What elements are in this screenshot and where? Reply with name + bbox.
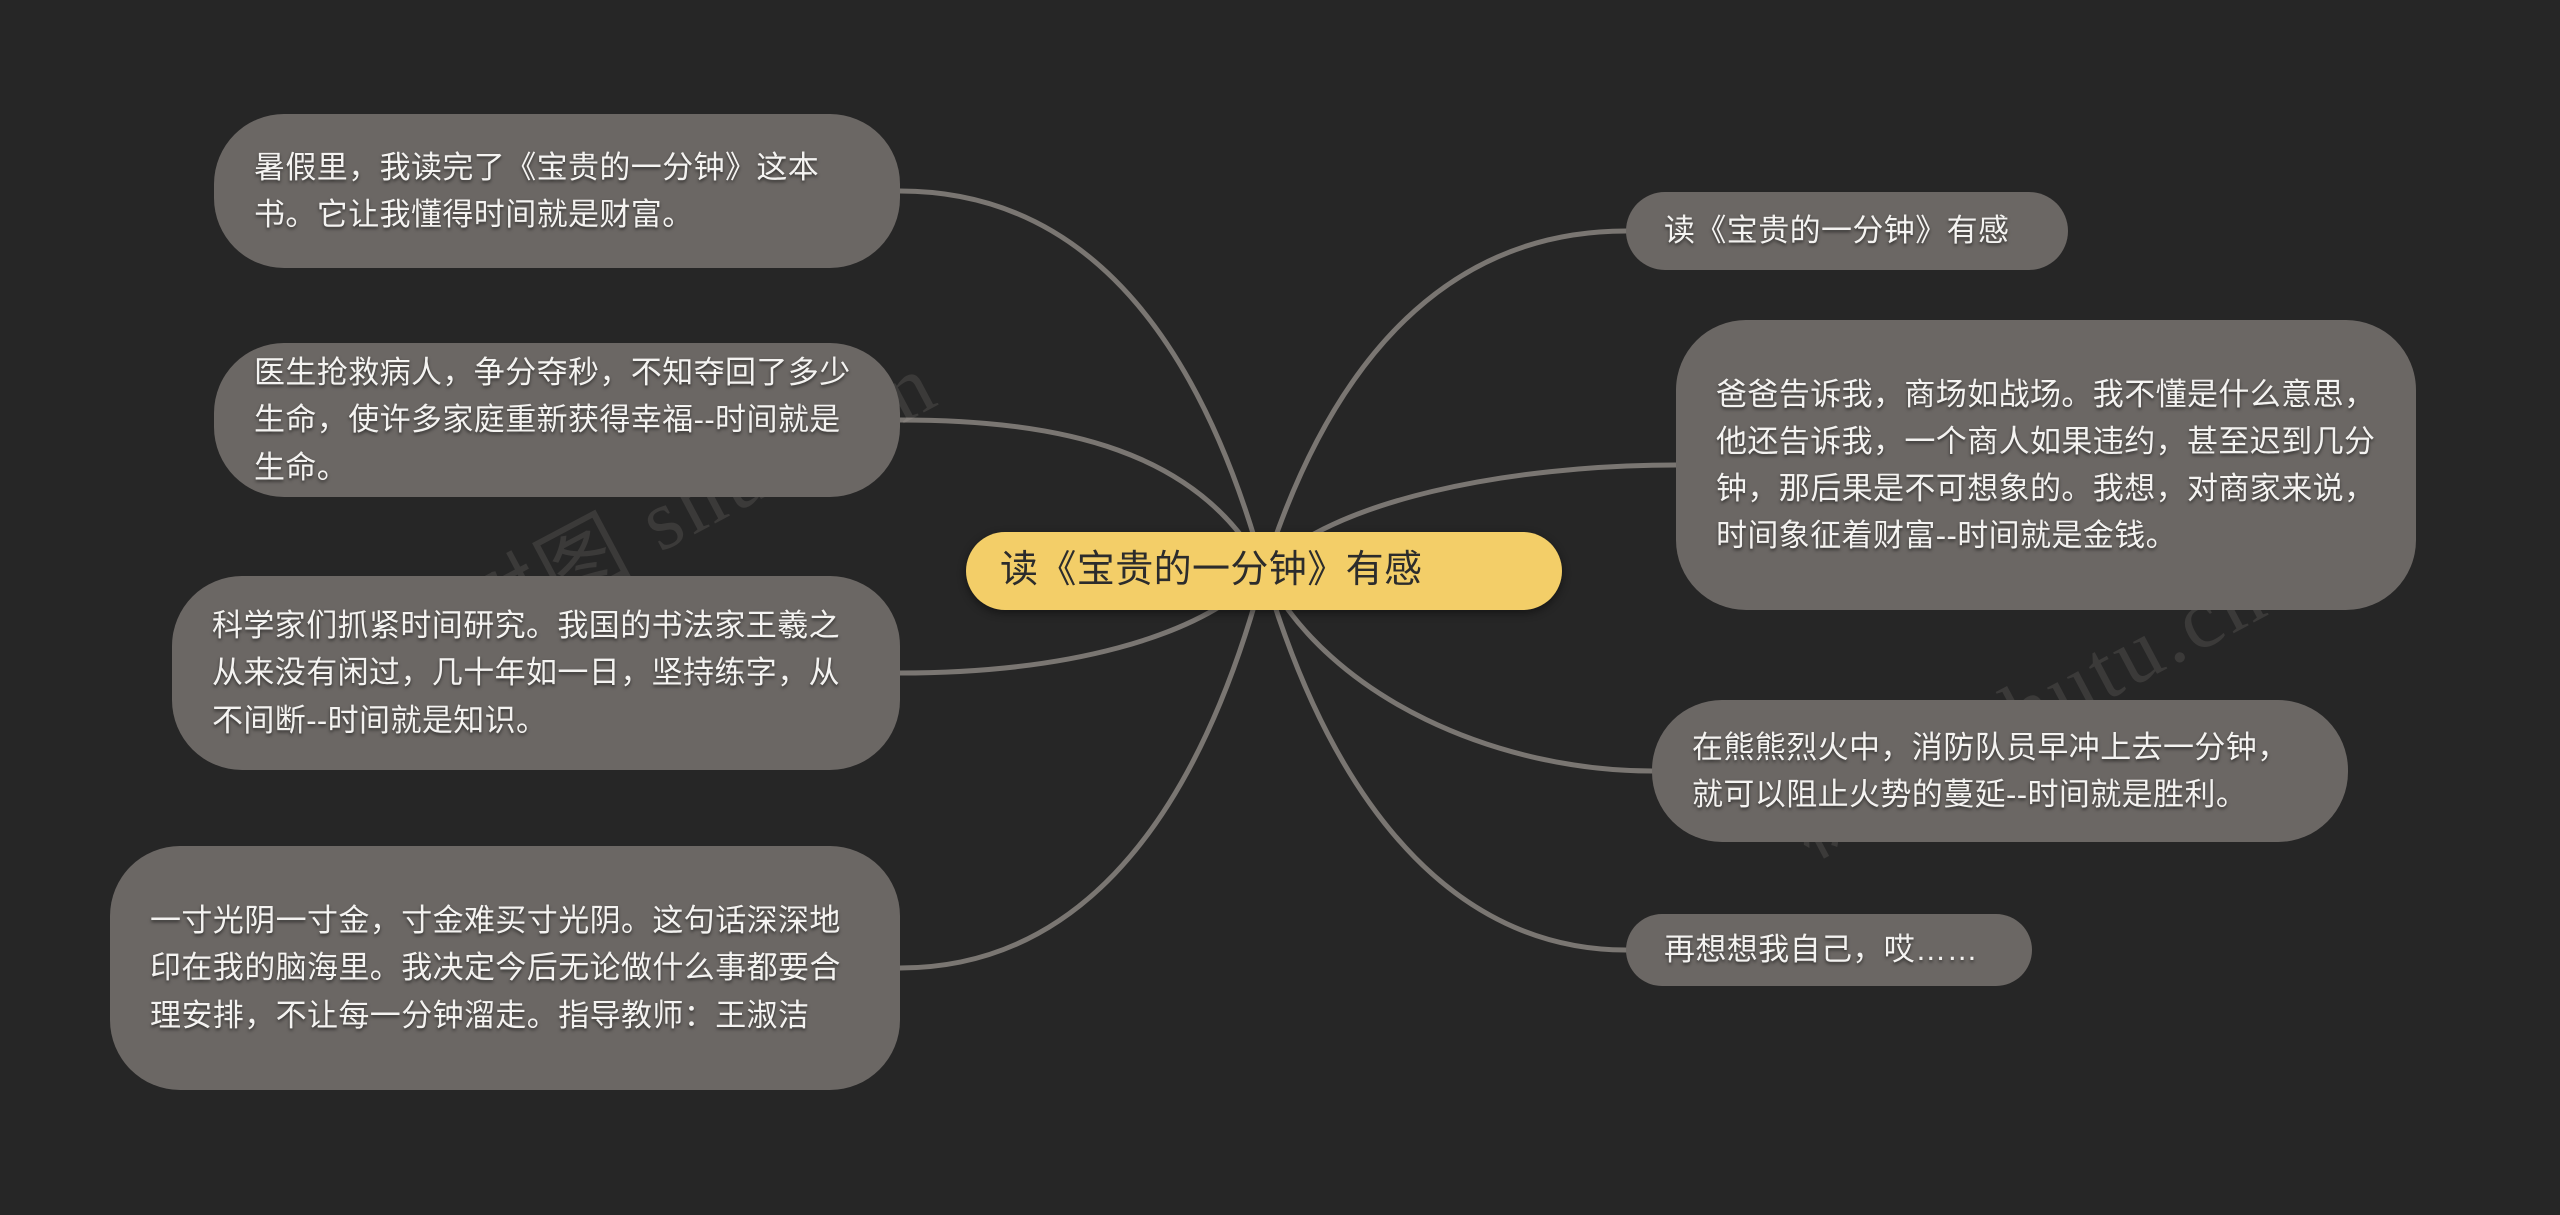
edge-center-to-left-4 — [900, 571, 1264, 968]
mindmap-canvas: 树图 shutu.cn 树图 shutu.cn 暑假里，我读完了《宝贵的一分钟》… — [0, 0, 2560, 1215]
mindmap-node-left-3[interactable]: 科学家们抓紧时间研究。我国的书法家王羲之从来没有闲过，几十年如一日，坚持练字，从… — [172, 576, 900, 770]
edge-center-to-right-4 — [1264, 571, 1626, 950]
center-node-label: 读《宝贵的一分钟》有感 — [1000, 542, 1528, 600]
mindmap-node-right-3[interactable]: 在熊熊烈火中，消防队员早冲上去一分钟，就可以阻止火势的蔓延--时间就是胜利。 — [1652, 700, 2348, 842]
mindmap-node-right-1[interactable]: 读《宝贵的一分钟》有感 — [1626, 192, 2068, 270]
mindmap-node-right-4[interactable]: 再想想我自己，哎…… — [1626, 914, 2032, 986]
node-label: 读《宝贵的一分钟》有感 — [1664, 207, 2030, 254]
mindmap-node-left-1[interactable]: 暑假里，我读完了《宝贵的一分钟》这本书。它让我懂得时间就是财富。 — [214, 114, 900, 268]
mindmap-node-left-4[interactable]: 一寸光阴一寸金，寸金难买寸光阴。这句话深深地印在我的脑海里。我决定今后无论做什么… — [110, 846, 900, 1090]
node-label: 一寸光阴一寸金，寸金难买寸光阴。这句话深深地印在我的脑海里。我决定今后无论做什么… — [150, 897, 860, 1038]
mindmap-node-left-2[interactable]: 医生抢救病人，争分夺秒，不知夺回了多少生命，使许多家庭重新获得幸福--时间就是生… — [214, 343, 900, 497]
node-label: 暑假里，我读完了《宝贵的一分钟》这本书。它让我懂得时间就是财富。 — [254, 144, 860, 238]
node-label: 再想想我自己，哎…… — [1664, 926, 1994, 973]
edge-center-to-left-1 — [900, 191, 1264, 571]
node-label: 在熊熊烈火中，消防队员早冲上去一分钟，就可以阻止火势的蔓延--时间就是胜利。 — [1692, 724, 2308, 818]
mindmap-center-node[interactable]: 读《宝贵的一分钟》有感 — [966, 532, 1562, 610]
node-label: 科学家们抓紧时间研究。我国的书法家王羲之从来没有闲过，几十年如一日，坚持练字，从… — [212, 602, 860, 743]
node-label: 医生抢救病人，争分夺秒，不知夺回了多少生命，使许多家庭重新获得幸福--时间就是生… — [254, 349, 860, 490]
node-label: 爸爸告诉我，商场如战场。我不懂是什么意思，他还告诉我，一个商人如果违约，甚至迟到… — [1716, 371, 2376, 559]
edge-center-to-right-1 — [1264, 231, 1626, 571]
mindmap-node-right-2[interactable]: 爸爸告诉我，商场如战场。我不懂是什么意思，他还告诉我，一个商人如果违约，甚至迟到… — [1676, 320, 2416, 610]
